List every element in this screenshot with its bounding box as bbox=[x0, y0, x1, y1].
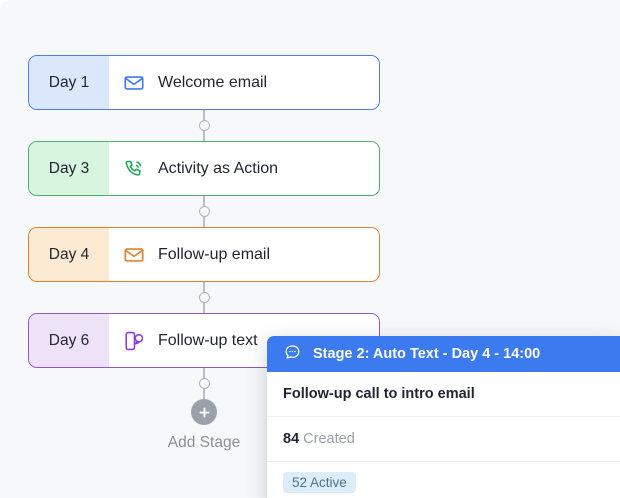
created-label: Created bbox=[303, 431, 355, 447]
stage-connector bbox=[28, 282, 380, 313]
envelope-icon bbox=[123, 72, 145, 94]
stage-title: Welcome email bbox=[158, 74, 267, 92]
add-stage-button[interactable] bbox=[191, 399, 217, 425]
envelope-icon bbox=[123, 244, 145, 266]
stage-body: Activity as Action bbox=[109, 142, 379, 195]
stage-card-day-1[interactable]: Day 1 Welcome email bbox=[28, 55, 380, 110]
stage-title: Follow-up email bbox=[158, 246, 270, 264]
stage-connector bbox=[28, 110, 380, 141]
stage-title: Activity as Action bbox=[158, 160, 278, 178]
stage-body: Welcome email bbox=[109, 56, 379, 109]
tooltip-description-row: Follow-up call to intro email bbox=[267, 372, 620, 417]
active-status-badge[interactable]: 52 Active bbox=[283, 472, 356, 493]
tooltip-active-row: 52 Active bbox=[267, 462, 620, 498]
phone-message-icon bbox=[123, 330, 145, 352]
stage-day-label: Day 3 bbox=[29, 142, 109, 195]
connector-node bbox=[199, 120, 210, 131]
created-count: 84 bbox=[283, 431, 299, 447]
stage-detail-tooltip: Stage 2: Auto Text - Day 4 - 14:00 Follo… bbox=[267, 336, 620, 498]
stage-day-label: Day 1 bbox=[29, 56, 109, 109]
created-metric: 84 Created bbox=[283, 431, 355, 447]
tooltip-description: Follow-up call to intro email bbox=[283, 386, 475, 402]
plus-icon bbox=[197, 405, 212, 420]
connector-node bbox=[199, 378, 210, 389]
connector-node bbox=[199, 206, 210, 217]
tooltip-title: Stage 2: Auto Text - Day 4 - 14:00 bbox=[313, 346, 540, 362]
connector-node bbox=[199, 292, 210, 303]
sequence-builder-canvas: Day 1 Welcome email Day 3 bbox=[0, 0, 620, 498]
tooltip-created-row: 84 Created bbox=[267, 417, 620, 462]
stage-day-label: Day 4 bbox=[29, 228, 109, 281]
phone-call-icon bbox=[123, 158, 145, 180]
stage-card-day-4[interactable]: Day 4 Follow-up email bbox=[28, 227, 380, 282]
stage-connector bbox=[28, 196, 380, 227]
stage-title: Follow-up text bbox=[158, 332, 258, 350]
stage-day-label: Day 6 bbox=[29, 314, 109, 367]
stage-body: Follow-up email bbox=[109, 228, 379, 281]
tooltip-header: Stage 2: Auto Text - Day 4 - 14:00 bbox=[267, 336, 620, 372]
add-stage-label: Add Stage bbox=[168, 434, 240, 452]
chat-bubble-icon bbox=[283, 343, 301, 366]
stage-card-day-3[interactable]: Day 3 Activity as Action bbox=[28, 141, 380, 196]
